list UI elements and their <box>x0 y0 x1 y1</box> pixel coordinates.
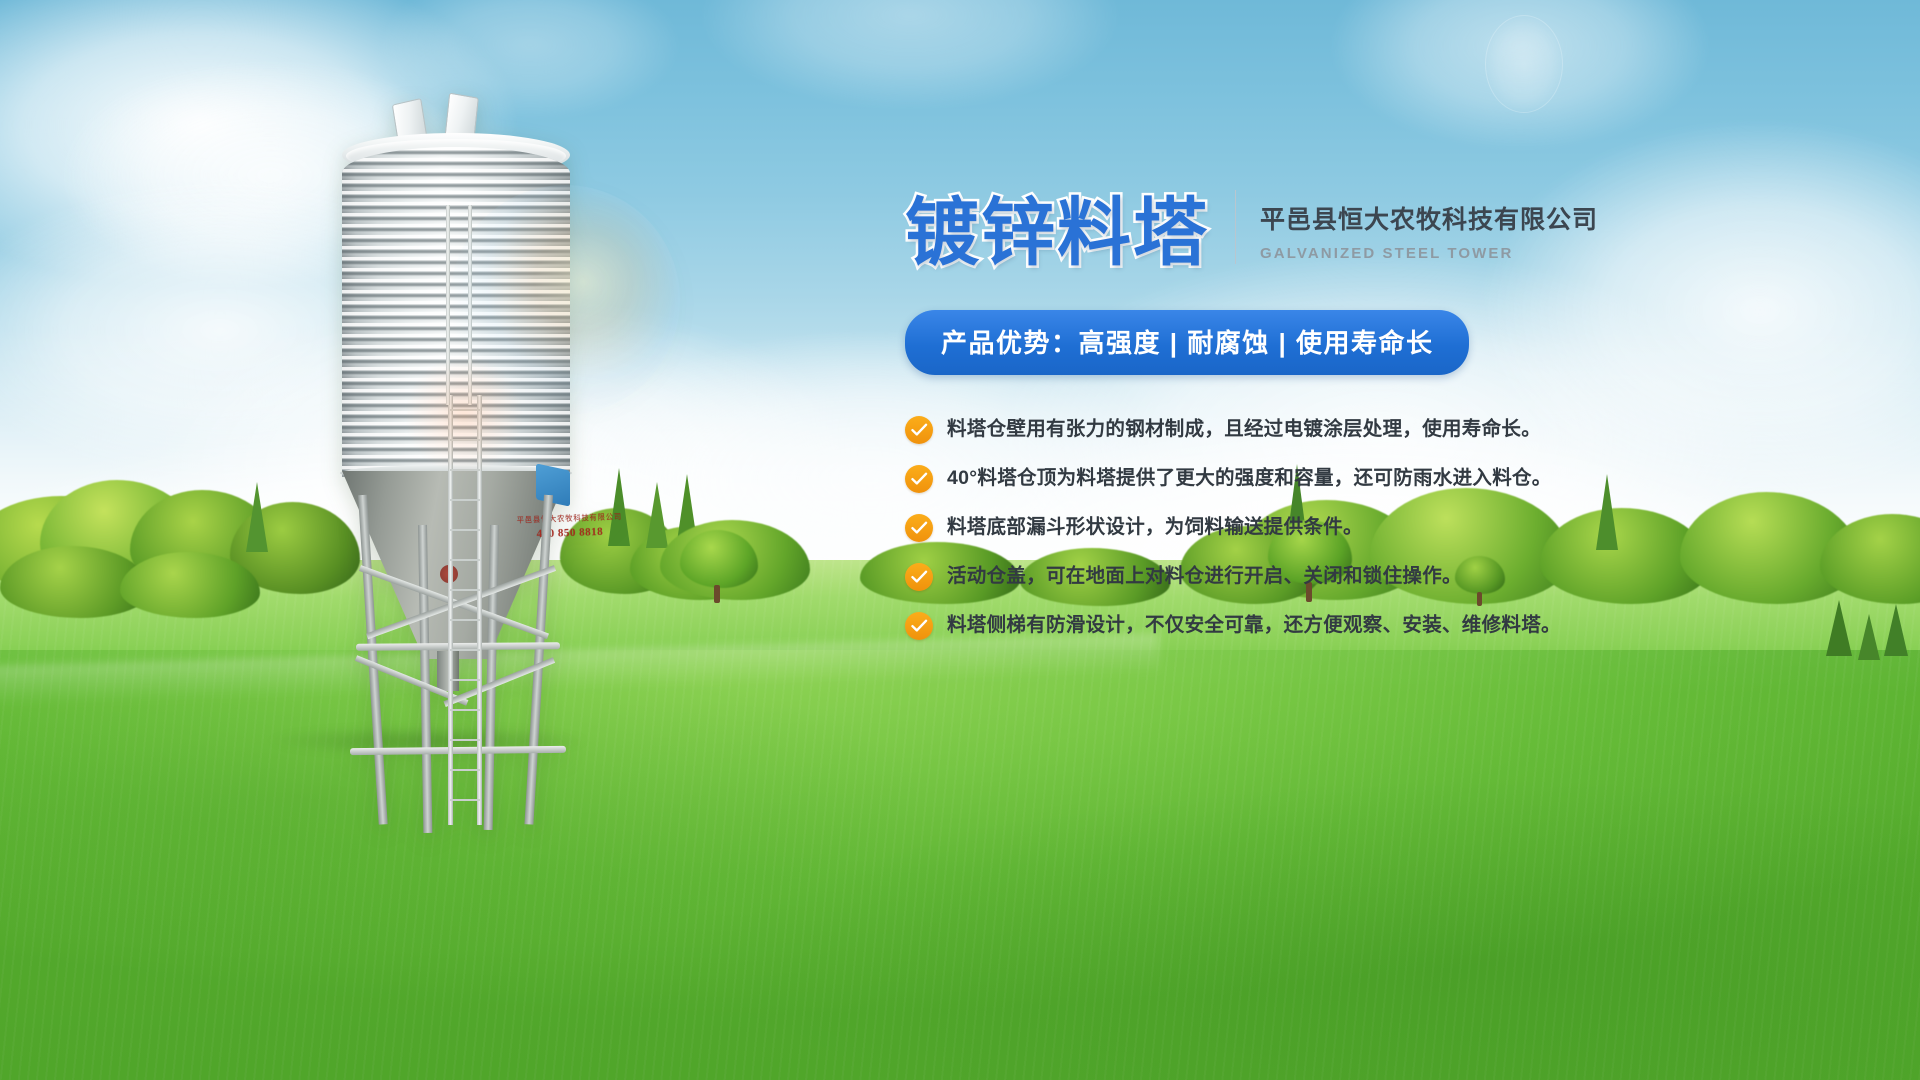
silo-discharge-chute <box>536 463 570 506</box>
silo-decal: 平邑县恒大农牧科技有限公司 400 850 8818 <box>509 511 631 563</box>
ladder-rung <box>450 589 480 591</box>
list-item: 料塔仓壁用有张力的钢材制成，且经过电镀涂层处理，使用寿命长。 <box>905 415 1605 444</box>
ladder-rung <box>450 619 480 621</box>
ladder-rail <box>446 205 450 405</box>
conifer-tree <box>246 482 268 552</box>
ladder-rung <box>450 709 480 711</box>
silo-decal-phone: 400 850 8818 <box>510 526 630 541</box>
ladder-rung <box>450 649 480 651</box>
conifer-tree <box>646 482 668 548</box>
ladder-rung <box>450 679 480 681</box>
subtitle-english: GALVANIZED STEEL TOWER <box>1260 245 1598 262</box>
check-circle-icon <box>905 612 933 640</box>
feature-text: 40°料塔仓顶为料塔提供了更大的强度和容量，还可防雨水进入料仓。 <box>947 464 1552 492</box>
ladder-rung <box>450 529 480 531</box>
title-right-block: 平邑县恒大农牧科技有限公司 GALVANIZED STEEL TOWER <box>1260 200 1598 270</box>
feature-text: 料塔侧梯有防滑设计，不仅安全可靠，还方便观察、安装、维修料塔。 <box>947 611 1561 639</box>
advantage-pill: 产品优势：高强度 | 耐腐蚀 | 使用寿命长 <box>905 310 1469 375</box>
silo-upper-ladder <box>446 205 472 405</box>
text-panel: 镀锌料塔 平邑县恒大农牧科技有限公司 GALVANIZED STEEL TOWE… <box>905 190 1605 660</box>
ladder-rung <box>450 409 480 411</box>
title-row: 镀锌料塔 平邑县恒大农牧科技有限公司 GALVANIZED STEEL TOWE… <box>905 190 1605 270</box>
check-circle-icon <box>905 416 933 444</box>
ladder-rail <box>448 395 453 825</box>
product-banner: 平邑县恒大农牧科技有限公司 400 850 8818 <box>0 0 1920 1080</box>
title-divider <box>1235 190 1236 264</box>
ladder-rung <box>450 499 480 501</box>
ladder-rung <box>450 769 480 771</box>
galvanized-feed-silo-photo: 平邑县恒大农牧科技有限公司 400 850 8818 <box>300 95 610 745</box>
page-title: 镀锌料塔 <box>905 196 1209 270</box>
ladder-rung <box>450 739 480 741</box>
ladder-rung <box>450 559 480 561</box>
ladder-rung <box>450 799 480 801</box>
feature-text: 料塔底部漏斗形状设计，为饲料输送提供条件。 <box>947 513 1363 541</box>
list-item: 料塔侧梯有防滑设计，不仅安全可靠，还方便观察、安装、维修料塔。 <box>905 611 1605 640</box>
ladder-rung <box>450 469 480 471</box>
cloud <box>700 0 1120 110</box>
conifer-tree <box>1884 604 1908 656</box>
check-circle-icon <box>905 465 933 493</box>
feature-text: 活动仓盖，可在地面上对料仓进行开启、关闭和锁住操作。 <box>947 562 1462 590</box>
ladder-rail <box>468 205 472 405</box>
check-circle-icon <box>905 563 933 591</box>
ladder-rail <box>477 395 482 825</box>
check-circle-icon <box>905 514 933 542</box>
conifer-tree <box>1826 600 1852 656</box>
list-item: 料塔底部漏斗形状设计，为饲料输送提供条件。 <box>905 513 1605 542</box>
silo-side-ladder <box>448 395 482 825</box>
list-item: 活动仓盖，可在地面上对料仓进行开启、关闭和锁住操作。 <box>905 562 1605 591</box>
ladder-rung <box>450 439 480 441</box>
company-name: 平邑县恒大农牧科技有限公司 <box>1260 200 1598 236</box>
feature-text: 料塔仓壁用有张力的钢材制成，且经过电镀涂层处理，使用寿命长。 <box>947 415 1541 443</box>
sun-orb-icon <box>1485 15 1563 113</box>
silo-decal-company: 平邑县恒大农牧科技有限公司 <box>515 511 623 526</box>
tree-trunk <box>714 585 720 603</box>
feature-list: 料塔仓壁用有张力的钢材制成，且经过电镀涂层处理，使用寿命长。 40°料塔仓顶为料… <box>905 415 1605 640</box>
list-item: 40°料塔仓顶为料塔提供了更大的强度和容量，还可防雨水进入料仓。 <box>905 464 1605 493</box>
conifer-tree <box>1858 614 1880 660</box>
